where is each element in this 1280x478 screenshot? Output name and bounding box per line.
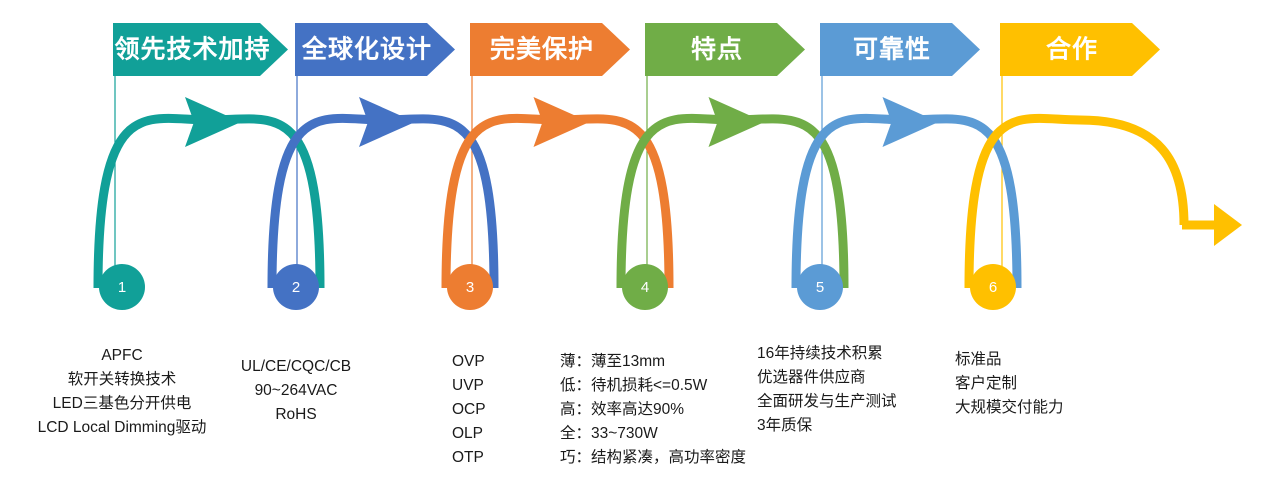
detail-line: 薄：薄至13mm — [560, 350, 746, 374]
detail-column-1: APFC软开关转换技术LED三基色分开供电LCD Local Dimming驱动 — [38, 344, 207, 440]
arc-path-3 — [446, 118, 669, 288]
detail-line: 巧：结构紧凑，高功率密度 — [560, 446, 746, 470]
step-circle-2[interactable] — [273, 264, 319, 310]
detail-line: 客户定制 — [955, 372, 1064, 396]
arc-path-2 — [272, 118, 494, 288]
arc-3 — [446, 97, 669, 288]
detail-line: 16年持续技术积累 — [757, 342, 897, 366]
arc-path-5 — [796, 118, 1017, 288]
detail-column-2: UL/CE/CQC/CB90~264VACRoHS — [241, 355, 351, 427]
process-arcs — [98, 97, 1242, 288]
detail-line: 软开关转换技术 — [38, 368, 207, 392]
detail-line: 全：33~730W — [560, 422, 746, 446]
detail-line: RoHS — [241, 403, 351, 427]
step-circle-4[interactable] — [622, 264, 668, 310]
detail-line: OCP — [452, 398, 486, 422]
arc-path-4 — [621, 118, 844, 288]
detail-column-6: 标准品客户定制大规模交付能力 — [955, 348, 1064, 420]
detail-line: OVP — [452, 350, 486, 374]
detail-column-5: 16年持续技术积累优选器件供应商全面研发与生产测试3年质保 — [757, 342, 897, 438]
detail-line: 大规模交付能力 — [955, 396, 1064, 420]
step-banners — [113, 23, 1160, 76]
arc-1 — [98, 97, 320, 288]
infographic-canvas: 领先技术加持全球化设计完美保护特点可靠性合作 123456 APFC软开关转换技… — [0, 0, 1280, 478]
detail-line: 全面研发与生产测试 — [757, 390, 897, 414]
detail-line: 3年质保 — [757, 414, 897, 438]
arc-5 — [796, 97, 1017, 288]
banner-shape-2[interactable] — [295, 23, 455, 76]
detail-line: LED三基色分开供电 — [38, 392, 207, 416]
banner-shape-1[interactable] — [113, 23, 288, 76]
banner-shape-5[interactable] — [820, 23, 980, 76]
connector-lines — [115, 76, 1002, 288]
detail-line: OTP — [452, 446, 486, 470]
arc-4 — [621, 97, 844, 288]
detail-line: UL/CE/CQC/CB — [241, 355, 351, 379]
arc-path-1 — [98, 118, 320, 288]
detail-column-4: 薄：薄至13mm低：待机损耗<=0.5W高：效率高达90%全：33~730W巧：… — [560, 350, 746, 470]
step-circle-3[interactable] — [447, 264, 493, 310]
banner-shape-4[interactable] — [645, 23, 805, 76]
banner-shape-6[interactable] — [1000, 23, 1160, 76]
detail-line: 优选器件供应商 — [757, 366, 897, 390]
final-arrow-head — [1214, 204, 1242, 246]
step-circle-1[interactable] — [99, 264, 145, 310]
step-circle-5[interactable] — [797, 264, 843, 310]
detail-line: OLP — [452, 422, 486, 446]
detail-line: APFC — [38, 344, 207, 368]
detail-line: 低：待机损耗<=0.5W — [560, 374, 746, 398]
detail-line: 标准品 — [955, 348, 1064, 372]
detail-line: LCD Local Dimming驱动 — [38, 416, 207, 440]
detail-line: 高：效率高达90% — [560, 398, 746, 422]
detail-column-3: OVPUVPOCPOLPOTP — [452, 350, 486, 470]
step-circles — [99, 264, 1016, 310]
detail-line: UVP — [452, 374, 486, 398]
step-circle-6[interactable] — [970, 264, 1016, 310]
banner-shape-3[interactable] — [470, 23, 630, 76]
arc-2 — [272, 97, 494, 288]
detail-line: 90~264VAC — [241, 379, 351, 403]
